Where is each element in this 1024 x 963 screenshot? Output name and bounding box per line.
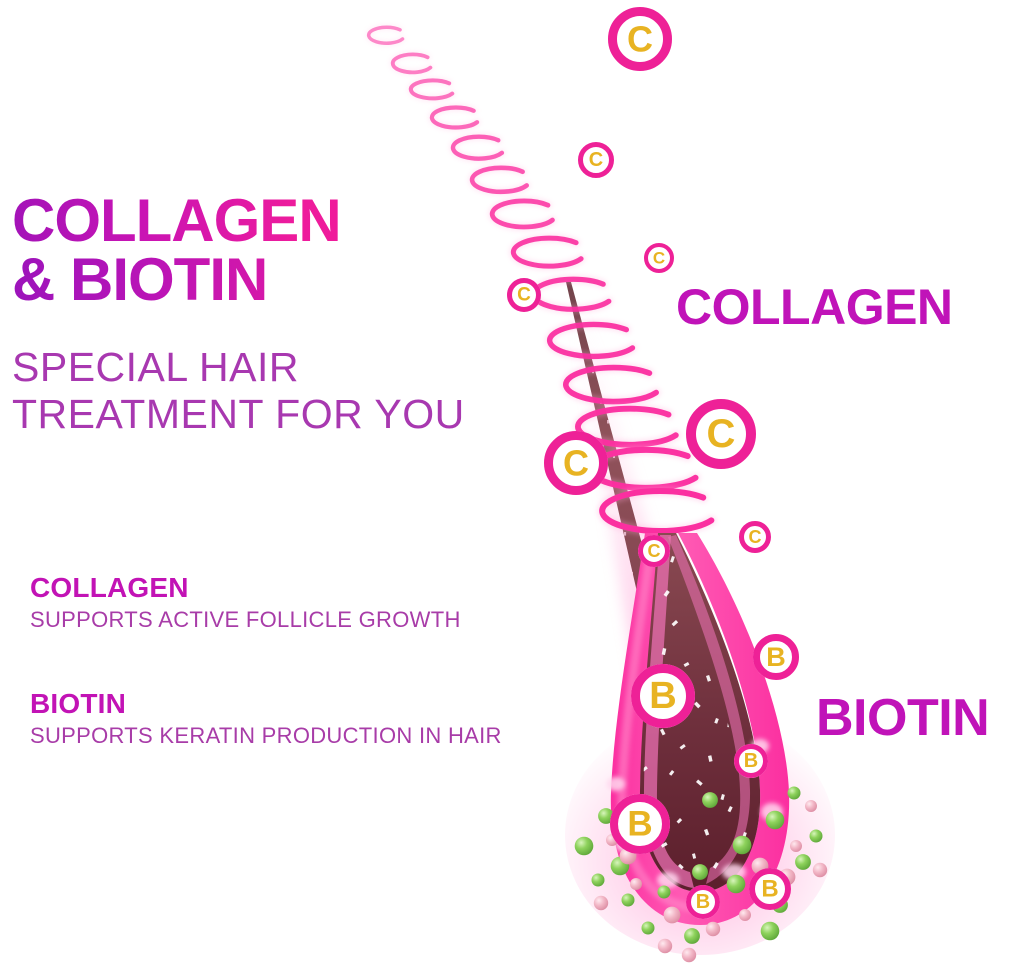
particle-green (766, 811, 785, 830)
particle-green (702, 792, 718, 808)
particle-green (642, 922, 655, 935)
bubble-letter: C (707, 412, 736, 456)
particle-green (727, 875, 746, 894)
bubble-letter: B (766, 642, 786, 672)
benefit-collagen: COLLAGEN SUPPORTS ACTIVE FOLLICLE GROWTH (30, 572, 461, 633)
particle-pink (790, 840, 802, 852)
collagen-bubble-1: C (608, 7, 672, 71)
particle-pink (682, 948, 696, 962)
biotin-bubble-5: B (686, 885, 720, 919)
particle-pink (706, 922, 720, 936)
bubble-letter: C (749, 527, 762, 547)
headline-line-1: COLLAGEN (12, 192, 532, 251)
collagen-bubble-8: C (739, 521, 771, 553)
bubble-letter: B (744, 750, 758, 772)
benefit-biotin-description: SUPPORTS KERATIN PRODUCTION IN HAIR (30, 723, 502, 749)
bubble-letter: B (696, 891, 710, 913)
collagen-bubble-2: C (578, 142, 614, 178)
particle-pink (658, 939, 672, 953)
particle-green (733, 836, 752, 855)
bubble-letter: C (653, 249, 665, 268)
biotin-bubble-6: B (749, 868, 791, 910)
benefit-biotin: BIOTIN SUPPORTS KERATIN PRODUCTION IN HA… (30, 688, 502, 749)
particle-green (575, 837, 594, 856)
particle-green (788, 787, 801, 800)
particle-green (592, 874, 605, 887)
side-label-collagen: COLLAGEN (676, 278, 953, 336)
headline-line-2: & BIOTIN (12, 251, 532, 310)
particle-pink (594, 896, 608, 910)
headline-block: COLLAGEN & BIOTIN (12, 192, 532, 310)
poster-canvas: CCCCCCCCBBBBBB COLLAGEN & BIOTIN SPECIAL… (0, 0, 1024, 963)
particle-pink (664, 907, 681, 924)
benefit-collagen-title: COLLAGEN (30, 572, 461, 604)
collagen-bubble-6: C (686, 399, 756, 469)
particle-pink (813, 863, 827, 877)
particle-green (810, 830, 823, 843)
bubble-letter: C (627, 19, 653, 60)
collagen-bubble-7: C (638, 535, 670, 567)
collagen-bubble-5: C (544, 431, 608, 495)
hair-follicle-illustration: CCCCCCCCBBBBBB (0, 0, 1024, 963)
side-label-biotin: BIOTIN (816, 688, 989, 748)
particle-pink (739, 909, 751, 921)
particle-pink (805, 800, 817, 812)
biotin-bubble-1: B (631, 664, 695, 728)
bubble-letter: B (761, 876, 778, 903)
subtitle-line-2: TREATMENT FOR YOU (12, 391, 572, 438)
biotin-bubble-2: B (753, 634, 799, 680)
subtitle-line-1: SPECIAL HAIR (12, 344, 572, 391)
bubble-letter: B (627, 805, 652, 844)
particle-green (761, 922, 780, 941)
bubble-letter: C (648, 541, 661, 561)
biotin-bubble-4: B (610, 794, 670, 854)
bubble-letter: C (589, 149, 603, 171)
subtitle-block: SPECIAL HAIR TREATMENT FOR YOU (12, 344, 572, 438)
collagen-bubble-3: C (644, 243, 674, 273)
particle-green (658, 886, 671, 899)
cuticle-spiral (566, 368, 656, 402)
particle-green (622, 894, 635, 907)
benefit-biotin-title: BIOTIN (30, 688, 502, 720)
bubble-letter: C (563, 443, 589, 484)
particle-pink (630, 878, 642, 890)
biotin-bubble-3: B (734, 744, 768, 778)
benefit-collagen-description: SUPPORTS ACTIVE FOLLICLE GROWTH (30, 607, 461, 633)
bubble-letter: B (649, 675, 676, 717)
particle-green (684, 928, 700, 944)
particle-green (795, 854, 811, 870)
particle-green (692, 864, 708, 880)
